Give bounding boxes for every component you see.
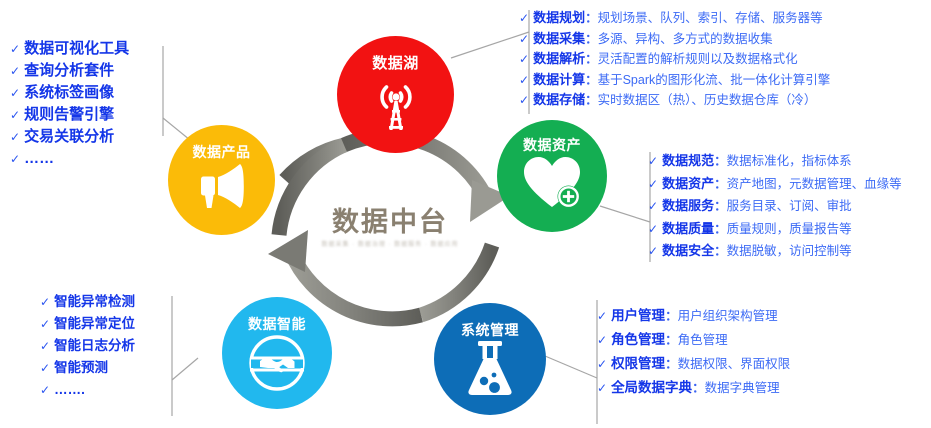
check-icon: ✓ [648, 219, 658, 241]
bullet-row: ✓数据存储：实时数据区（热）、历史数据仓库（冷） [519, 90, 830, 111]
check-icon: ✓ [648, 196, 658, 218]
node-datalake[interactable]: 数据湖 [337, 36, 454, 153]
bullet-separator: ： [714, 219, 727, 241]
check-icon: ✓ [40, 380, 50, 401]
bullet-term: 系统标签画像 [24, 82, 114, 103]
bullet-row: ✓规则告警引擎 [10, 104, 129, 126]
bullet-term: 数据计算 [533, 70, 585, 91]
check-icon: ✓ [10, 149, 20, 170]
check-icon: ✓ [10, 127, 20, 148]
check-icon: ✓ [10, 105, 20, 126]
bullet-term: 规则告警引擎 [24, 104, 114, 125]
check-icon: ✓ [519, 8, 529, 29]
bullet-description: 规划场景、队列、索引、存储、服务器等 [598, 8, 823, 29]
check-icon: ✓ [10, 39, 20, 60]
connector-product-leader [163, 118, 190, 140]
bullet-term: 角色管理 [611, 328, 665, 351]
broadcast-tower-icon [368, 74, 424, 132]
list-data-lake: ✓数据规划：规划场景、队列、索引、存储、服务器等✓数据采集：多源、异构、多方式的… [519, 8, 830, 111]
bullet-term: 交易关联分析 [24, 126, 114, 147]
bullet-term: 数据安全 [662, 240, 714, 262]
bullet-row: ✓数据计算：基于Spark的图形化流、批一体化计算引擎 [519, 70, 830, 91]
flask-icon [465, 340, 515, 396]
bullet-row: ✓数据规划：规划场景、队列、索引、存储、服务器等 [519, 8, 830, 29]
bullet-term: 数据质量 [662, 218, 714, 240]
bullet-separator: ： [714, 196, 727, 218]
bullet-separator: ： [714, 174, 727, 196]
bullet-term: 数据存储 [533, 90, 585, 111]
bullet-separator: ： [714, 151, 727, 173]
check-icon: ✓ [597, 329, 607, 352]
check-icon: ✓ [648, 174, 658, 196]
check-icon: ✓ [597, 305, 607, 328]
bullet-term: 数据采集 [533, 29, 585, 50]
bullet-row: ✓智能异常检测 [40, 291, 135, 313]
bullet-description: 数据脱敏，访问控制等 [727, 241, 852, 263]
check-icon: ✓ [519, 29, 529, 50]
bullet-separator: ： [585, 8, 598, 29]
megaphone-icon [194, 162, 250, 210]
bullet-term: 数据服务 [662, 195, 714, 217]
bullet-separator: ： [585, 70, 598, 91]
bullet-row: ✓智能异常定位 [40, 313, 135, 335]
bullet-term: 用户管理 [611, 304, 665, 327]
bullet-description: 质量规则，质量报告等 [727, 219, 852, 241]
bullet-row: ✓数据安全：数据脱敏，访问控制等 [648, 240, 902, 263]
bullet-description: 多源、异构、多方式的数据收集 [598, 29, 773, 50]
bullet-row: ✓…… [10, 148, 129, 170]
check-icon: ✓ [597, 353, 607, 376]
bullet-row: ✓权限管理：数据权限、界面权限 [597, 352, 790, 376]
check-icon: ✓ [519, 90, 529, 111]
bullet-description: 资产地图，元数据管理、血缘等 [727, 174, 902, 196]
bullet-row: ✓……. [40, 379, 135, 401]
bullet-row: ✓查询分析套件 [10, 60, 129, 82]
list-data-product: ✓数据可视化工具✓查询分析套件✓系统标签画像✓规则告警引擎✓交易关联分析✓…… [10, 38, 129, 170]
handshake-icon [248, 334, 306, 392]
bullet-separator: ： [692, 377, 705, 400]
bullet-term: 查询分析套件 [24, 60, 114, 81]
bullet-row: ✓系统标签画像 [10, 82, 129, 104]
check-icon: ✓ [40, 292, 50, 313]
bullet-separator: ： [585, 90, 598, 111]
bullet-row: ✓用户管理：用户组织架构管理 [597, 304, 790, 328]
check-icon: ✓ [10, 83, 20, 104]
bullet-row: ✓全局数据字典：数据字典管理 [597, 376, 790, 400]
node-dataproduct-label: 数据产品 [193, 145, 251, 159]
bullet-row: ✓智能预测 [40, 357, 135, 379]
check-icon: ✓ [648, 241, 658, 263]
bullet-term: ……. [54, 379, 85, 400]
bullet-term: 数据规范 [662, 150, 714, 172]
check-icon: ✓ [40, 314, 50, 335]
bullet-row: ✓数据服务：服务目录、订阅、审批 [648, 195, 902, 218]
bullet-description: 服务目录、订阅、审批 [727, 196, 852, 218]
node-dataasset[interactable]: 数据资产 [497, 120, 607, 232]
bullet-separator: ： [585, 49, 598, 70]
node-datasmart-label: 数据智能 [248, 317, 306, 331]
bullet-description: 灵活配置的解析规则以及数据格式化 [598, 49, 798, 70]
bullet-term: 数据规划 [533, 8, 585, 29]
bullet-row: ✓数据质量：质量规则，质量报告等 [648, 218, 902, 241]
bullet-row: ✓数据解析：灵活配置的解析规则以及数据格式化 [519, 49, 830, 70]
bullet-row: ✓智能日志分析 [40, 335, 135, 357]
bullet-description: 实时数据区（热）、历史数据仓库（冷） [598, 90, 817, 111]
bullet-term: 全局数据字典 [611, 376, 692, 399]
center-block: 数据中台 数据采集 · 数据治理 · 数据服务 · 数据应用 [300, 208, 480, 248]
diagram-canvas: 数据湖 数据资产 [0, 0, 931, 428]
bullet-term: 智能异常检测 [54, 291, 135, 312]
node-sysmgmt[interactable]: 系统管理 [434, 303, 546, 415]
check-icon: ✓ [40, 336, 50, 357]
list-system-mgmt: ✓用户管理：用户组织架构管理✓角色管理：角色管理✓权限管理：数据权限、界面权限✓… [597, 304, 790, 400]
bullet-term: 智能预测 [54, 357, 108, 378]
bullet-separator: ： [665, 329, 678, 352]
bullet-row: ✓角色管理：角色管理 [597, 328, 790, 352]
node-sysmgmt-label: 系统管理 [461, 323, 519, 337]
bullet-description: 数据权限、界面权限 [678, 353, 791, 376]
connector-lake-leader [451, 32, 529, 58]
bullet-separator: ： [665, 353, 678, 376]
bullet-term: 智能日志分析 [54, 335, 135, 356]
connector-sys-leader [545, 356, 597, 378]
check-icon: ✓ [10, 61, 20, 82]
bullet-separator: ： [665, 305, 678, 328]
check-icon: ✓ [519, 70, 529, 91]
node-datalake-label: 数据湖 [372, 56, 419, 71]
bullet-term: 数据解析 [533, 49, 585, 70]
heart-plus-icon [521, 155, 583, 210]
bullet-separator: ： [714, 241, 727, 263]
list-data-asset: ✓数据规范：数据标准化，指标体系✓数据资产：资产地图，元数据管理、血缘等✓数据服… [648, 150, 902, 263]
bullet-separator: ： [585, 29, 598, 50]
bullet-description: 数据标准化，指标体系 [727, 151, 852, 173]
center-title: 数据中台 [300, 208, 480, 236]
bullet-description: 数据字典管理 [705, 377, 780, 400]
bullet-row: ✓数据采集：多源、异构、多方式的数据收集 [519, 29, 830, 50]
check-icon: ✓ [648, 151, 658, 173]
node-dataasset-label: 数据资产 [523, 138, 581, 152]
bullet-term: 数据可视化工具 [24, 38, 129, 59]
bullet-description: 角色管理 [678, 329, 728, 352]
check-icon: ✓ [40, 358, 50, 379]
bullet-term: 权限管理 [611, 352, 665, 375]
node-datasmart[interactable]: 数据智能 [222, 297, 332, 409]
bullet-description: 基于Spark的图形化流、批一体化计算引擎 [598, 70, 831, 91]
bullet-term: …… [24, 148, 54, 169]
bullet-row: ✓数据资产：资产地图，元数据管理、血缘等 [648, 173, 902, 196]
bullet-term: 智能异常定位 [54, 313, 135, 334]
check-icon: ✓ [519, 49, 529, 70]
bullet-row: ✓交易关联分析 [10, 126, 129, 148]
bullet-row: ✓数据规范：数据标准化，指标体系 [648, 150, 902, 173]
bullet-description: 用户组织架构管理 [678, 305, 778, 328]
bullet-term: 数据资产 [662, 173, 714, 195]
center-subtitle: 数据采集 · 数据治理 · 数据服务 · 数据应用 [300, 239, 480, 248]
connector-smart-leader [172, 358, 198, 380]
check-icon: ✓ [597, 377, 607, 400]
bullet-row: ✓数据可视化工具 [10, 38, 129, 60]
connector-asset-leader [600, 206, 650, 222]
list-data-smart: ✓智能异常检测✓智能异常定位✓智能日志分析✓智能预测✓……. [40, 291, 135, 401]
node-dataproduct[interactable]: 数据产品 [168, 125, 275, 235]
